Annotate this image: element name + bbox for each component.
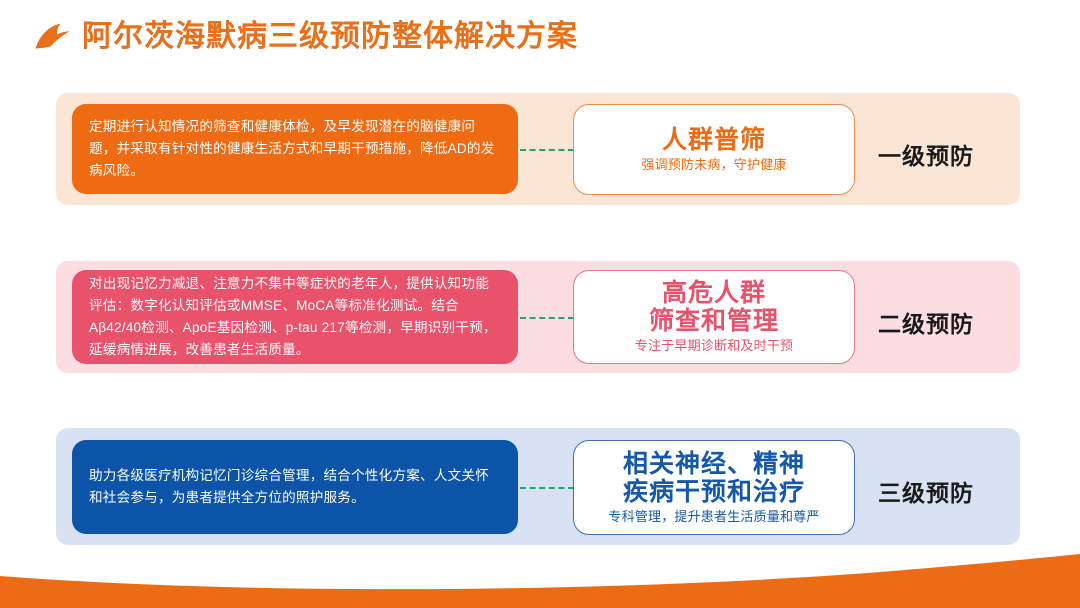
connector-dashed-secondary — [520, 317, 574, 319]
summary-card-heading-secondary-line1: 高危人群 — [649, 279, 779, 307]
page-title-text: 阿尔茨海默病三级预防整体解决方案 — [82, 22, 578, 52]
summary-card-primary[interactable]: 人群普筛 强调预防未病，守护健康 — [573, 104, 855, 195]
summary-card-subtitle-secondary: 专注于早期诊断和及时干预 — [635, 338, 793, 354]
slide-canvas: 阿尔茨海默病三级预防整体解决方案 定期进行认知情况的筛查和健康体检，及早发现潜在… — [0, 0, 1080, 608]
level-label-primary: 一级预防 — [878, 137, 974, 171]
description-text-secondary: 对出现记忆力减退、注意力不集中等症状的老年人，提供认知功能评估：数字化认知评估或… — [89, 273, 502, 361]
summary-card-heading-secondary: 高危人群 筛查和管理 — [649, 279, 779, 335]
summary-card-heading-tertiary-line2: 疾病干预和治疗 — [623, 478, 805, 506]
description-box-secondary: 对出现记忆力减退、注意力不集中等症状的老年人，提供认知功能评估：数字化认知评估或… — [72, 270, 518, 364]
description-text-tertiary: 助力各级医疗机构记忆门诊综合管理，结合个性化方案、人文关怀和社会参与，为患者提供… — [89, 465, 502, 509]
summary-card-heading-tertiary-line1: 相关神经、精神 — [623, 450, 805, 478]
summary-card-secondary[interactable]: 高危人群 筛查和管理 专注于早期诊断和及时干预 — [573, 270, 855, 364]
summary-card-heading-secondary-line2: 筛查和管理 — [649, 307, 779, 335]
summary-card-tertiary[interactable]: 相关神经、精神 疾病干预和治疗 专科管理，提升患者生活质量和尊严 — [573, 440, 855, 535]
description-box-primary: 定期进行认知情况的筛查和健康体检，及早发现潜在的脑健康问题，并采取有针对性的健康… — [72, 104, 518, 194]
summary-card-heading-primary: 人群普筛 — [662, 126, 766, 154]
connector-dashed-tertiary — [520, 487, 574, 489]
connector-dashed-primary — [520, 149, 574, 151]
description-box-tertiary: 助力各级医疗机构记忆门诊综合管理，结合个性化方案、人文关怀和社会参与，为患者提供… — [72, 440, 518, 534]
summary-card-heading-tertiary: 相关神经、精神 疾病干预和治疗 — [623, 450, 805, 506]
description-text-primary: 定期进行认知情况的筛查和健康体检，及早发现潜在的脑健康问题，并采取有针对性的健康… — [89, 116, 502, 182]
level-label-tertiary: 三级预防 — [878, 474, 974, 508]
level-label-secondary: 二级预防 — [878, 305, 974, 339]
page-title: 阿尔茨海默病三级预防整体解决方案 — [34, 22, 578, 52]
summary-card-subtitle-primary: 强调预防未病，守护健康 — [641, 157, 786, 173]
summary-card-subtitle-tertiary: 专科管理，提升患者生活质量和尊严 — [608, 509, 819, 525]
bird-wing-icon — [34, 22, 72, 52]
bottom-wave-decoration — [0, 552, 1080, 608]
